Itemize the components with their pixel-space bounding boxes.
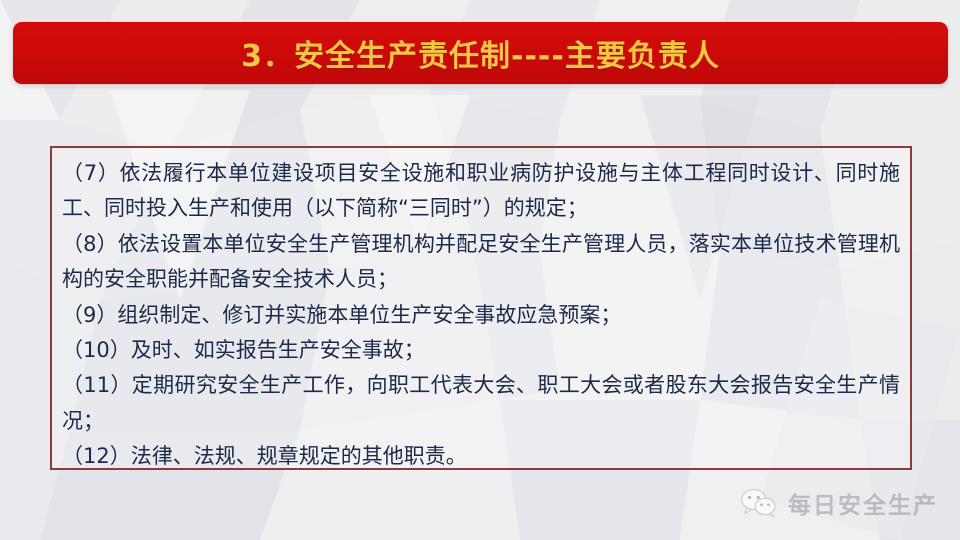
content-paragraph-12: （12）法律、法规、规章规定的其他职责。 — [62, 439, 900, 474]
content-paragraph-8: （8）依法设置本单位安全生产管理机构并配足安全生产管理人员，落实本单位技术管理机… — [62, 227, 900, 298]
content-paragraph-11: （11）定期研究安全生产工作，向职工代表大会、职工大会或者股东大会报告安全生产情… — [62, 368, 900, 439]
slide-canvas: 3．安全生产责任制----主要负责人 （7）依法履行本单位建设项目安全设施和职业… — [0, 0, 960, 540]
watermark: 每日安全生产 — [740, 483, 950, 523]
content-box: （7）依法履行本单位建设项目安全设施和职业病防护设施与主体工程同时设计、同时施工… — [50, 146, 912, 470]
content-paragraph-10: （10）及时、如实报告生产安全事故； — [62, 333, 900, 368]
content-paragraph-9: （9）组织制定、修订并实施本单位生产安全事故应急预案； — [62, 298, 900, 333]
title-banner: 3．安全生产责任制----主要负责人 — [13, 22, 948, 84]
wechat-icon — [740, 488, 778, 518]
content-paragraph-7: （7）依法履行本单位建设项目安全设施和职业病防护设施与主体工程同时设计、同时施工… — [62, 156, 900, 227]
watermark-label: 每日安全生产 — [788, 486, 938, 520]
page-title: 3．安全生产责任制----主要负责人 — [241, 31, 720, 75]
